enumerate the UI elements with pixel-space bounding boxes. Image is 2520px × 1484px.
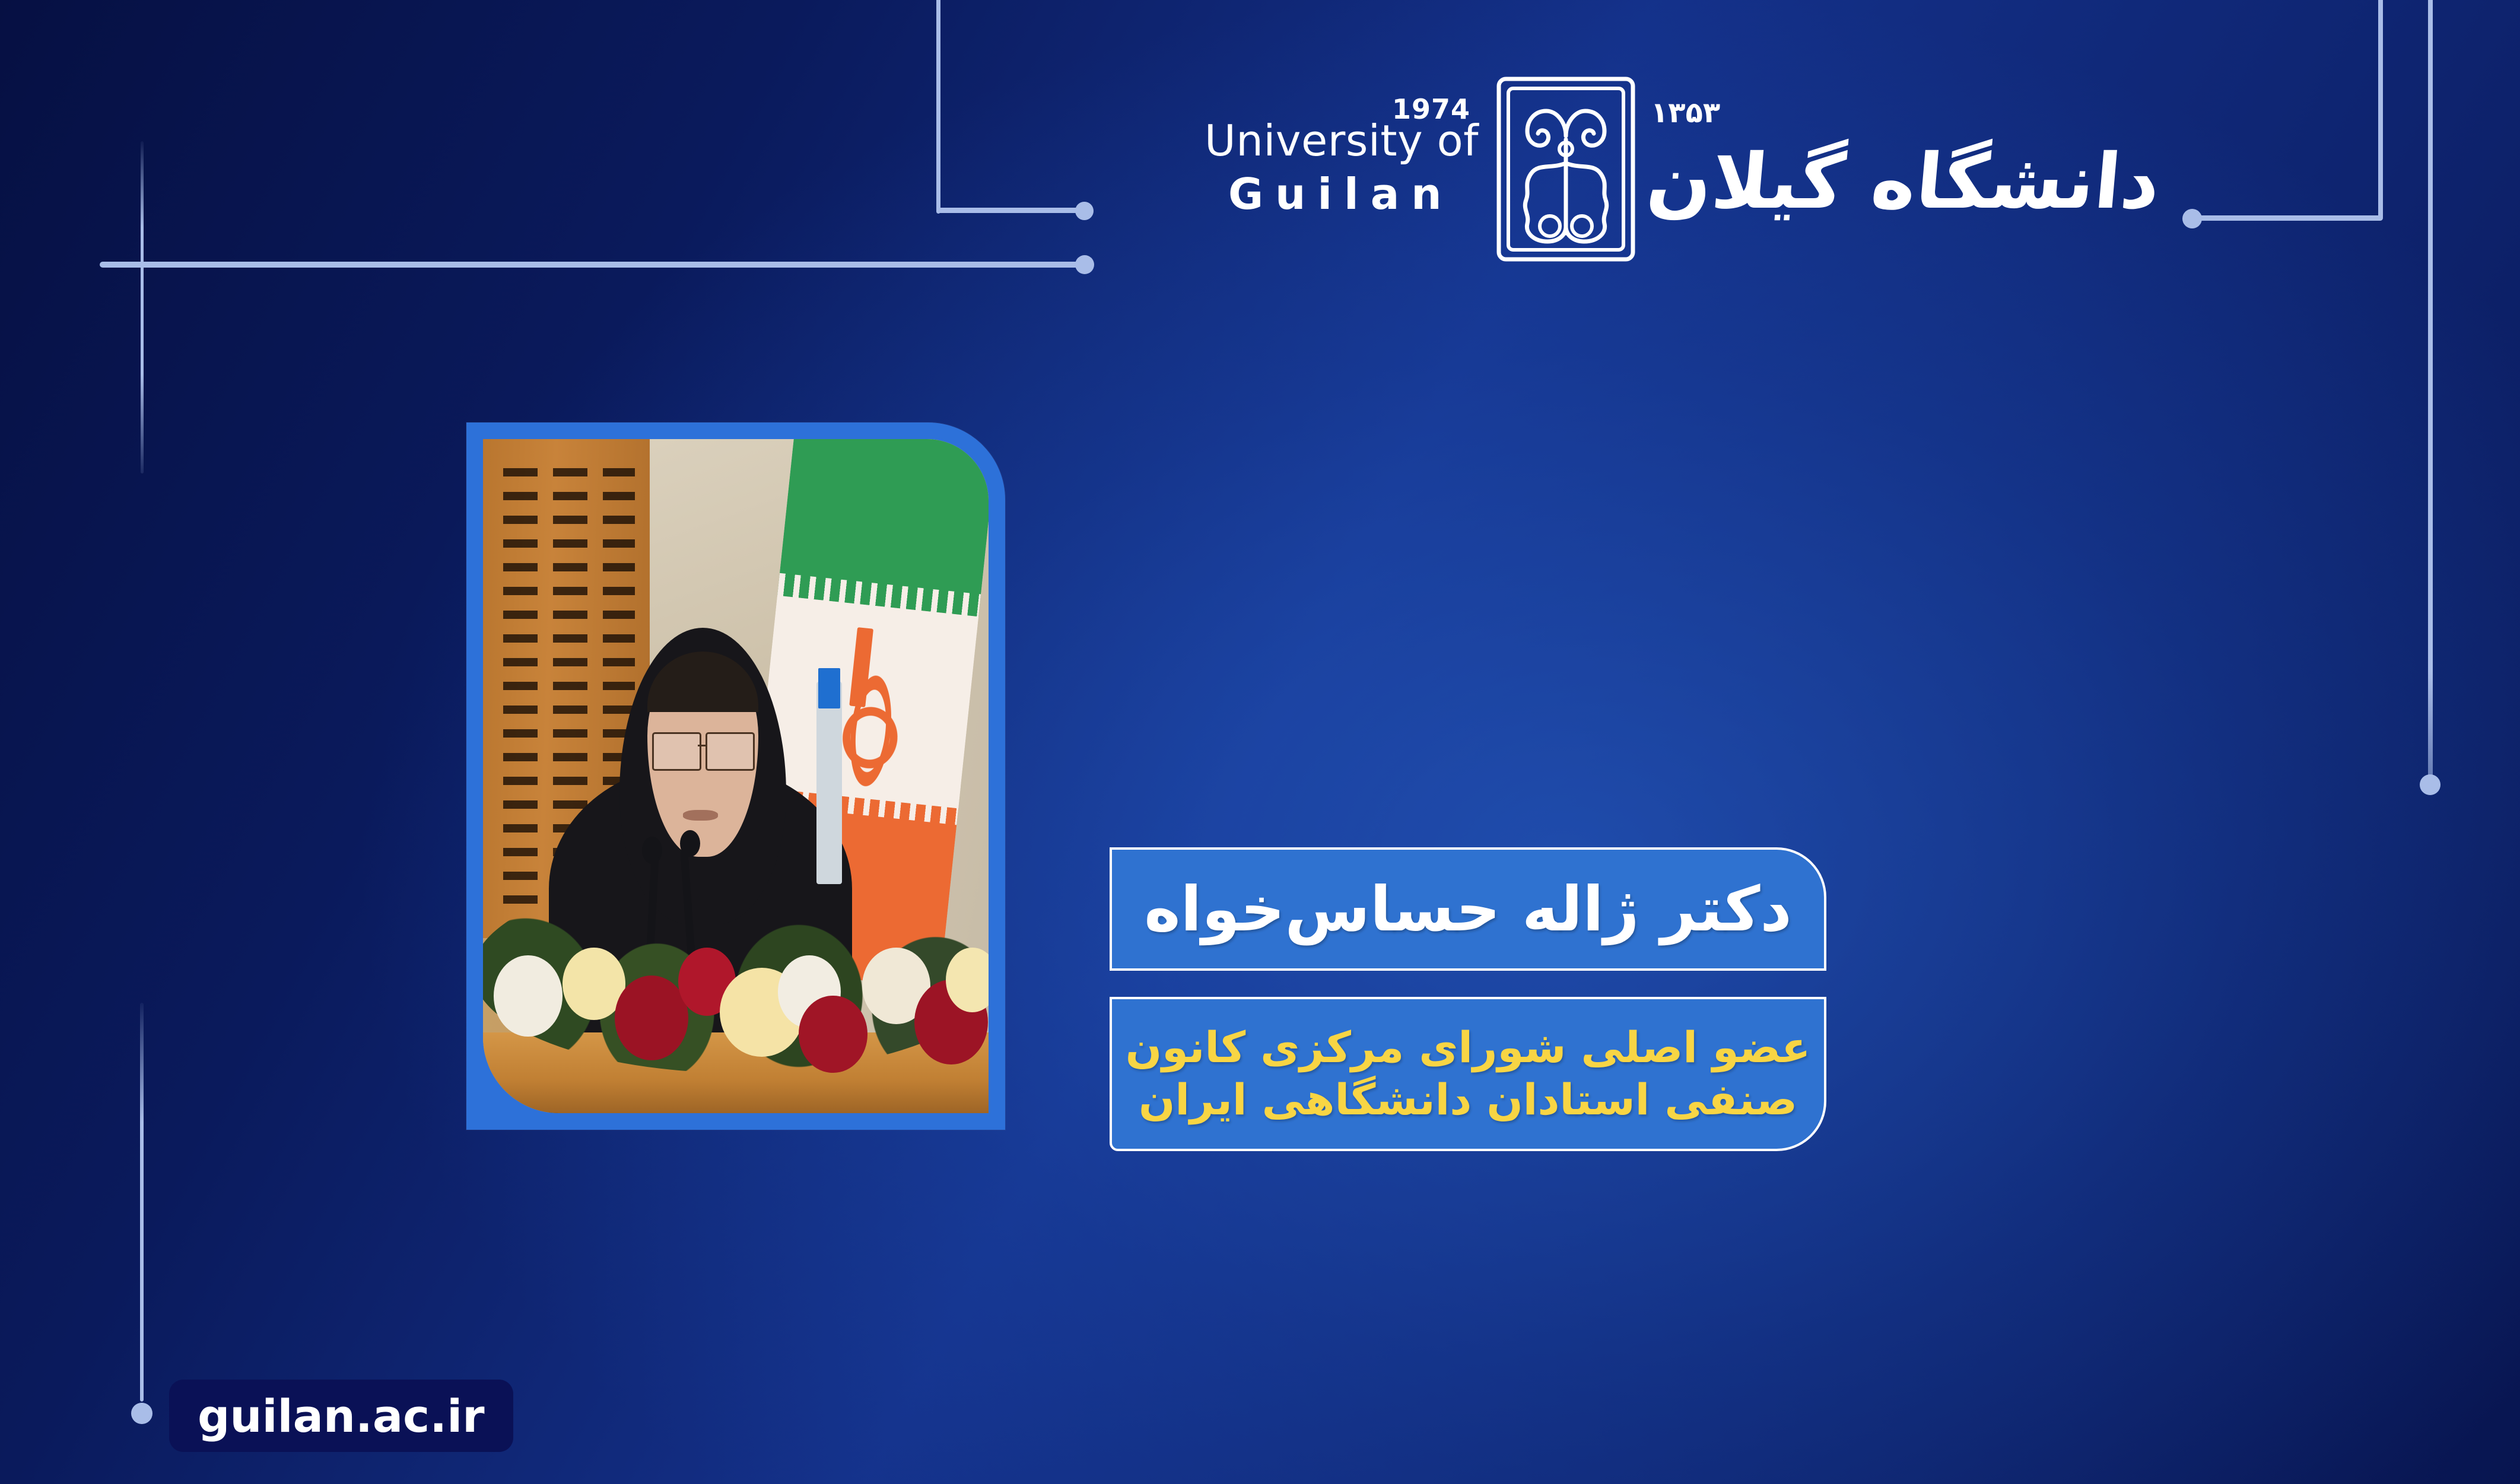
photo-glasses-right — [706, 732, 755, 771]
decor-dot-top-left — [1075, 202, 1094, 220]
speaker-name: دکتر ژاله حساس‌خواه — [1144, 873, 1792, 945]
decor-dot-right-edge — [2420, 774, 2440, 795]
speaker-role-line-1: عضو اصلی شورای مرکزی کانون — [1126, 1022, 1811, 1074]
decor-vline-right-edge — [2428, 0, 2433, 783]
decor-vline-top-left — [936, 0, 940, 214]
logo-english-block: 1974 University of Guilan — [1205, 119, 1479, 219]
website-url-badge[interactable]: guilan.ac.ir — [169, 1380, 513, 1452]
decor-dot-top-right — [2182, 209, 2202, 228]
guilan-butterfly-emblem-icon — [1493, 74, 1639, 264]
photo-water-bottle — [816, 682, 842, 884]
decor-vline-crossing — [141, 141, 144, 474]
logo-university-persian: دانشگاه گیلان — [1644, 142, 2163, 222]
logo-year-persian: ۱۳۵۳ — [1651, 96, 1720, 129]
photo-bottle-cap — [818, 668, 840, 708]
photo-glasses-left — [652, 732, 701, 771]
decor-hline-top-right — [2198, 215, 2383, 221]
decor-vline-top-right — [2378, 0, 2383, 220]
decor-dot-bottom-left — [131, 1403, 152, 1424]
logo-persian-block: ۱۳۵۳ دانشگاه گیلان — [1647, 116, 2160, 222]
photo-person-mouth — [683, 810, 719, 821]
logo-university-word: University of — [1205, 119, 1479, 163]
decor-hline-top-left — [936, 208, 1088, 213]
portrait-photo — [483, 439, 989, 1113]
website-url: guilan.ac.ir — [198, 1390, 485, 1442]
decor-vline-bottom-left — [140, 1003, 144, 1402]
poster-canvas: 1974 University of Guilan ۱۳۵۳ دانشگاه گ… — [0, 0, 2520, 1484]
logo-year-gregorian: 1974 — [1392, 93, 1470, 125]
photo-glasses-bridge — [698, 745, 706, 746]
photo-flower-red-1 — [615, 975, 688, 1060]
portrait-frame — [466, 422, 1005, 1130]
speaker-name-panel: دکتر ژاله حساس‌خواه — [1110, 847, 1826, 971]
logo-guilan-word: Guilan — [1205, 170, 1454, 219]
decor-dot-long-line — [1075, 255, 1094, 274]
university-logo: 1974 University of Guilan ۱۳۵۳ دانشگاه گ… — [1205, 89, 2130, 249]
decor-hline-long — [100, 262, 1092, 268]
speaker-role-line-2: صنفی استادان دانشگاهی ایران — [1139, 1074, 1797, 1126]
photo-flower-white-1 — [494, 955, 562, 1036]
photo-flower-red-3 — [799, 996, 867, 1073]
photo-flower-arrangement — [483, 870, 989, 1073]
speaker-role-panel: عضو اصلی شورای مرکزی کانون صنفی استادان … — [1110, 997, 1826, 1151]
